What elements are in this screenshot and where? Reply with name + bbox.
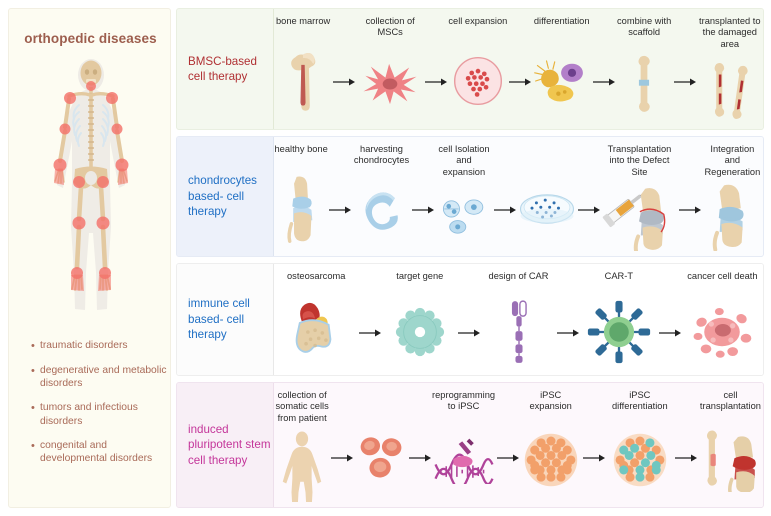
flow-arrow [408, 383, 432, 507]
step-ipsc-expansion: iPSC expansion [520, 383, 582, 507]
therapy-row-bmsc: BMSC-based cell therapy bone marrow [176, 8, 764, 130]
flow-arrow [678, 137, 702, 256]
flow-arrow [674, 383, 698, 507]
femur-bone-marrow-icon [274, 33, 332, 129]
syringe-knee-injection-icon [601, 178, 678, 256]
flow-arrow [457, 264, 481, 375]
osteosarcoma-bone-tumor-icon [274, 288, 358, 375]
step-label: transplanted to the damaged area [697, 9, 763, 50]
row-label-chondrocytes: chondrocytes based- cell therapy [177, 137, 273, 256]
step-label: CAR-T [605, 264, 633, 288]
car-construct-icon [481, 288, 556, 375]
car-t-cell-icon [580, 288, 658, 375]
differentiated-ipsc-colony-icon [606, 413, 674, 507]
row-content-ipsc: collection of somatic cells from patient [274, 383, 763, 507]
list-item-label: degenerative and metabolic disorders [40, 364, 171, 390]
figure-canvas: orthopedic diseases [0, 0, 771, 516]
step-label: bone marrow [276, 9, 330, 33]
bone-with-scaffold-icon [616, 39, 673, 129]
step-bone-marrow: bone marrow [274, 9, 332, 129]
flow-arrow [358, 264, 382, 375]
step-label: combine with scaffold [616, 9, 673, 39]
step-label: reprogramming to iPSC [432, 383, 496, 413]
row-label-immune-cell: immune cell based- cell therapy [177, 264, 273, 375]
transplanted-bones-icon [697, 50, 763, 129]
therapy-row-chondrocytes: chondrocytes based- cell therapy healthy… [176, 136, 764, 257]
flow-arrow [592, 9, 616, 129]
flow-arrow [658, 264, 682, 375]
mesenchymal-stem-cell-icon [356, 39, 424, 129]
bullet-icon: • [31, 364, 40, 378]
list-item: • tumors and infectious disorders [31, 401, 171, 427]
row-content-immune-cell: osteosarcoma [274, 264, 763, 375]
petri-dish-cells-icon [517, 161, 577, 256]
step-cell-expansion: cell expansion [448, 9, 508, 129]
step-label: healthy bone [275, 137, 328, 161]
list-item: • traumatic disorders [31, 339, 171, 353]
patient-body-icon [274, 424, 330, 507]
step-label: cancer cell death [687, 264, 757, 288]
flow-arrow [577, 137, 601, 256]
step-harvesting-chondrocytes: harvesting chondrocytes [352, 137, 410, 256]
step-collection-of-somatic-cells: collection of somatic cells from patient [274, 383, 330, 507]
step-combine-with-scaffold: combine with scaffold [616, 9, 673, 129]
step-transplanted-to-damaged-area: transplanted to the damaged area [697, 9, 763, 129]
list-item-label: tumors and infectious disorders [40, 401, 171, 427]
cartilage-harvest-icon [352, 167, 410, 256]
step-label: cell transplantation [698, 383, 763, 413]
step-label: target gene [396, 264, 443, 288]
step-label: differentiation [534, 9, 590, 33]
bone-joint-transplant-icon [698, 413, 763, 507]
row-content-chondrocytes: healthy bone harves [274, 137, 763, 256]
flow-arrow [493, 137, 517, 256]
dying-cancer-cells-icon [682, 288, 763, 375]
cell-culture-dish-icon [448, 33, 508, 129]
target-gene-icon [382, 288, 457, 375]
bullet-icon: • [31, 439, 40, 453]
flow-arrow [411, 137, 435, 256]
differentiated-cells-icon [532, 33, 592, 129]
step-design-of-car: design of CAR [481, 264, 556, 375]
step-healthy-bone: healthy bone [274, 137, 328, 256]
step-cancer-cell-death: cancer cell death [682, 264, 763, 375]
step-car-t: CAR-T [580, 264, 658, 375]
bullet-icon: • [31, 401, 40, 415]
flow-arrow [582, 383, 606, 507]
step-label: harvesting chondrocytes [352, 137, 410, 167]
flow-arrow [332, 9, 356, 129]
regenerated-knee-icon [702, 178, 763, 256]
flow-arrow [330, 383, 354, 507]
step-ipsc-differentiation: iPSC differentiation [606, 383, 674, 507]
step-osteosarcoma: osteosarcoma [274, 264, 358, 375]
step-somatic-cells [354, 383, 407, 507]
step-collection-of-mscs: collection of MSCs [356, 9, 424, 129]
therapy-row-ipsc: induced pluripotent stem cell therapy co… [176, 382, 764, 508]
orthopedic-diseases-panel: orthopedic diseases [8, 8, 171, 508]
page-title: orthopedic diseases [9, 31, 172, 46]
flow-arrow [424, 9, 448, 129]
list-item-label: traumatic disorders [40, 339, 171, 352]
therapy-row-immune-cell: immune cell based- cell therapy osteosar… [176, 263, 764, 376]
step-cell-transplantation: cell transplantation [698, 383, 763, 507]
ipsc-colony-icon [520, 413, 582, 507]
step-label: cell expansion [448, 9, 507, 33]
step-integration-and-regeneration: Integration and Regeneration [702, 137, 763, 256]
list-item-label: congenital and developmental disorders [40, 439, 171, 465]
step-label: Transplantation into the Defect Site [601, 137, 678, 178]
step-label: osteosarcoma [287, 264, 345, 288]
flow-arrow [328, 137, 352, 256]
step-label: Integration and Regeneration [702, 137, 763, 178]
row-label-bmsc: BMSC-based cell therapy [177, 9, 273, 129]
step-cell-isolation-and-expansion: cell Isolation and expansion [435, 137, 493, 256]
human-skeleton-joint-pain-illustration [41, 57, 141, 325]
list-item: • degenerative and metabolic disorders [31, 364, 171, 390]
row-label-ipsc: induced pluripotent stem cell therapy [177, 383, 273, 507]
row-content-bmsc: bone marrow collection of MSCs [274, 9, 763, 129]
step-reprogramming-to-ipsc: reprogramming to iPSC [432, 383, 496, 507]
step-target-gene: target gene [382, 264, 457, 375]
somatic-cells-icon [354, 407, 407, 507]
disease-list: • traumatic disorders • degenerative and… [31, 339, 171, 476]
step-transplantation-into-defect-site: Transplantation into the Defect Site [601, 137, 678, 256]
step-label: iPSC expansion [520, 383, 582, 413]
flow-arrow [673, 9, 697, 129]
dna-reprogramming-icon [432, 413, 496, 507]
flow-arrow [508, 9, 532, 129]
step-differentiation: differentiation [532, 9, 592, 129]
list-item: • congenital and developmental disorders [31, 439, 171, 465]
flow-arrow [556, 264, 580, 375]
step-label: cell Isolation and expansion [435, 137, 493, 178]
knee-joint-icon [274, 161, 328, 256]
flow-arrow [496, 383, 520, 507]
step-label: iPSC differentiation [606, 383, 674, 413]
step-label: design of CAR [489, 264, 549, 288]
bullet-icon: • [31, 339, 40, 353]
step-label: collection of somatic cells from patient [274, 383, 330, 424]
step-petri-dish-culture [517, 137, 577, 256]
step-label: collection of MSCs [356, 9, 424, 39]
isolated-chondrocytes-icon [435, 178, 493, 256]
